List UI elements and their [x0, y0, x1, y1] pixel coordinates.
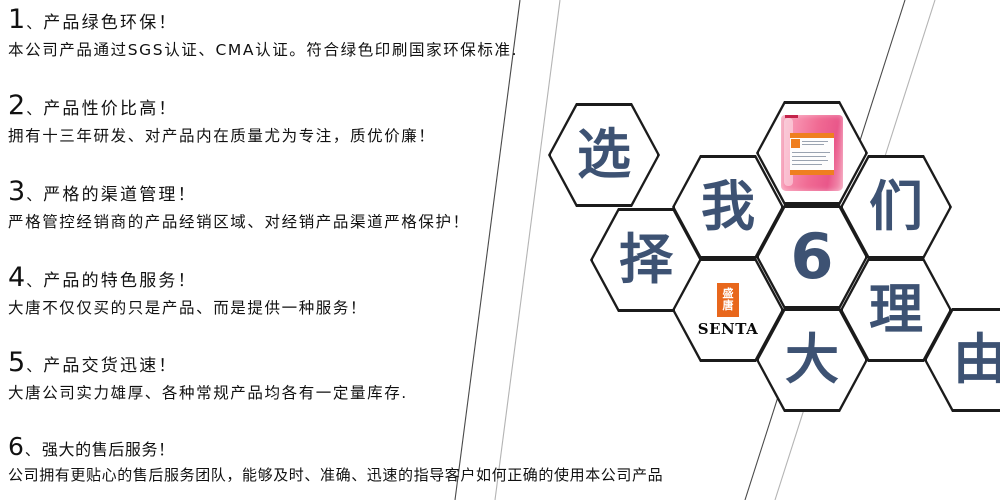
hex-cell-you: 由	[924, 308, 1000, 412]
label-text-line	[792, 156, 826, 157]
hex-cell-men: 们	[840, 155, 952, 259]
label-text-line	[792, 152, 830, 153]
brand-mark-char-2: 唐	[723, 300, 734, 312]
label-text-line	[802, 144, 824, 145]
honeycomb-cluster: 选 择 我 盛 唐 SENTA	[0, 0, 1000, 500]
jerrycan-label	[790, 133, 834, 175]
hex-glyph: 们	[840, 155, 952, 259]
jerrycan-icon	[781, 115, 843, 191]
hex-glyph: 由	[924, 308, 1000, 412]
label-text-line	[792, 160, 828, 161]
label-logo-swatch	[791, 139, 800, 148]
brand-latin-name: SENTA	[698, 320, 758, 338]
label-text-line	[792, 164, 822, 165]
label-text-line	[802, 141, 828, 142]
hex-glyph: 选	[548, 103, 660, 207]
brand-mark-icon: 盛 唐	[717, 283, 739, 317]
promo-banner: 1 、 产品绿色环保！ 本公司产品通过SGS认证、CMA认证。符合绿色印刷国家环…	[0, 0, 1000, 500]
hex-cell-xuan: 选	[548, 103, 660, 207]
brand-mark-char-1: 盛	[723, 288, 734, 300]
